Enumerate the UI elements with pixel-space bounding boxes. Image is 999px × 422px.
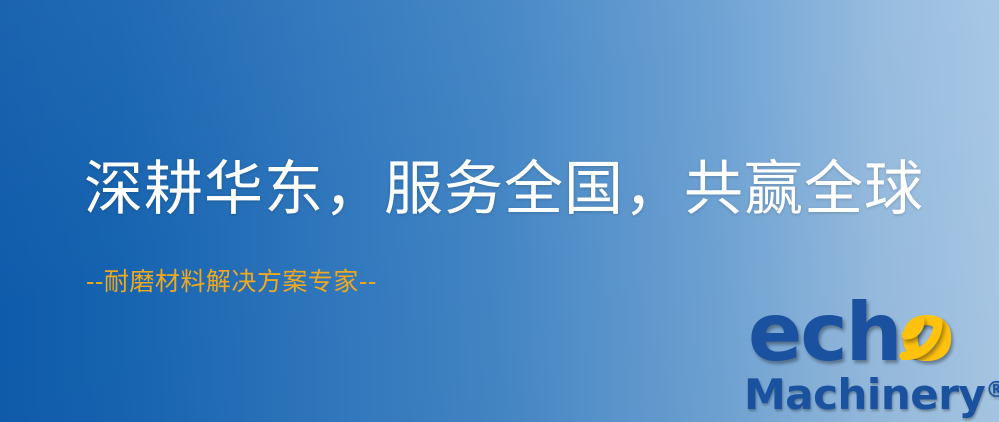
echo-waves-icon — [894, 294, 964, 360]
logo-wordmark: echo — [748, 296, 953, 370]
logo-tagline: Machinery® — [744, 366, 999, 420]
banner-subtitle: --耐磨材料解决方案专家-- — [86, 266, 377, 298]
registered-trademark-icon: ® — [985, 378, 999, 403]
logo-tagline-text: Machinery — [744, 370, 985, 419]
banner-headline: 深耕华东，服务全国，共赢全球 — [84, 152, 924, 226]
hero-banner: 深耕华东，服务全国，共赢全球 --耐磨材料解决方案专家-- echo — [0, 0, 999, 422]
company-logo[interactable]: echo Machinery® — [742, 296, 999, 422]
logo-wordmark-primary: ech — [748, 296, 901, 370]
